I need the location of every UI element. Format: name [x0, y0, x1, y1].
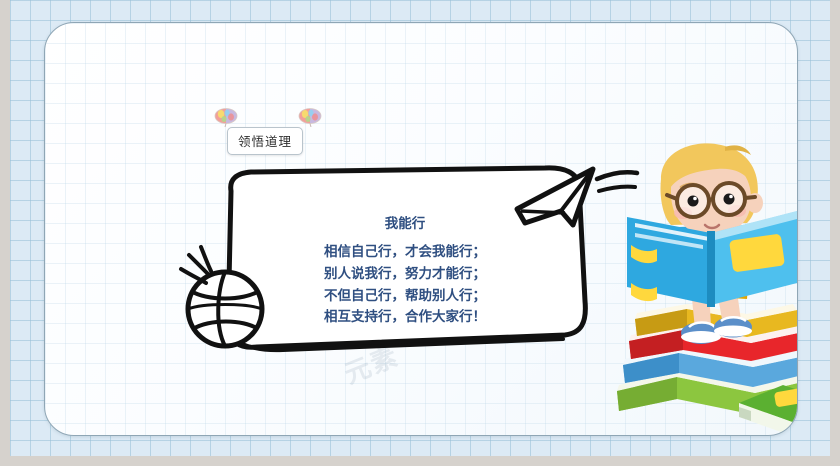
lantern-icon-right	[297, 107, 323, 127]
verse-line-1: 相信自己行，才会我能行；	[235, 241, 575, 263]
slide-root: 元素 元素	[0, 0, 840, 466]
verse-text-group: 我能行 相信自己行，才会我能行； 别人说我行，努力才能行； 不但自己行，帮助别人…	[235, 213, 575, 328]
verse-line-2: 别人说我行，努力才能行；	[235, 263, 575, 285]
lantern-icon-left	[213, 107, 239, 127]
section-tab[interactable]: 领悟道理	[213, 107, 323, 147]
content-card: 元素 元素	[44, 22, 798, 436]
verse-line-3: 不但自己行，帮助别人行；	[235, 285, 575, 307]
verse-title: 我能行	[235, 213, 575, 235]
head	[660, 143, 763, 235]
speech-box: 我能行 相信自己行，才会我能行； 别人说我行，努力才能行； 不但自己行，帮助别人…	[173, 151, 643, 391]
boy-reading-illustration	[605, 141, 798, 436]
verse-line-4: 相互支持行，合作大家行！	[235, 306, 575, 328]
